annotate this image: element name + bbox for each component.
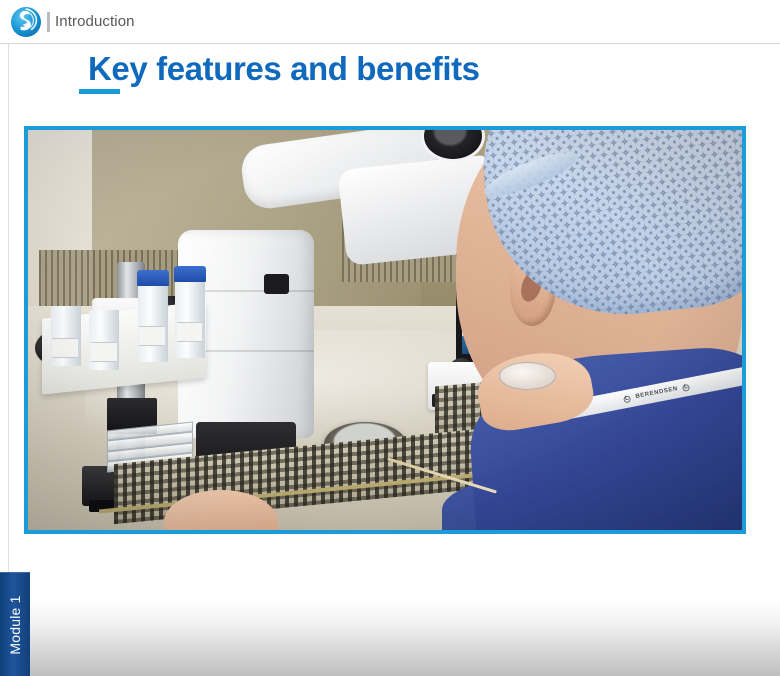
vial-cap — [137, 270, 170, 286]
scrub-care-mark: L — [682, 383, 690, 391]
scrub-brand-text: BERENDSEN — [635, 386, 678, 400]
photo-scene: L BERENDSEN L — [28, 130, 742, 530]
vial-label — [177, 322, 203, 342]
microscope-zoom-knob — [264, 274, 289, 294]
sample-dish — [499, 362, 556, 390]
slide: Introduction Key features and benefits — [0, 0, 780, 676]
section-label: Introduction — [55, 12, 135, 32]
sample-vial — [175, 278, 205, 358]
feature-photo: L BERENDSEN L — [24, 126, 746, 534]
vial-label — [91, 342, 117, 362]
header-divider — [47, 12, 50, 32]
header-rule — [0, 43, 780, 44]
page-title: Key features and benefits — [88, 49, 480, 89]
footer-background — [0, 600, 780, 676]
vial-label — [139, 326, 165, 346]
title-accent-underline — [79, 89, 120, 94]
scrub-care-mark: L — [623, 395, 631, 403]
slide-header: Introduction — [0, 0, 780, 44]
sample-vial — [138, 282, 168, 362]
left-edge-rule — [8, 44, 9, 572]
vial-label — [52, 338, 78, 358]
module-tab[interactable]: Module 1 — [0, 572, 30, 676]
vial-cap — [174, 266, 207, 282]
company-swirl-logo-icon — [9, 5, 43, 39]
module-tab-label: Module 1 — [7, 595, 23, 654]
